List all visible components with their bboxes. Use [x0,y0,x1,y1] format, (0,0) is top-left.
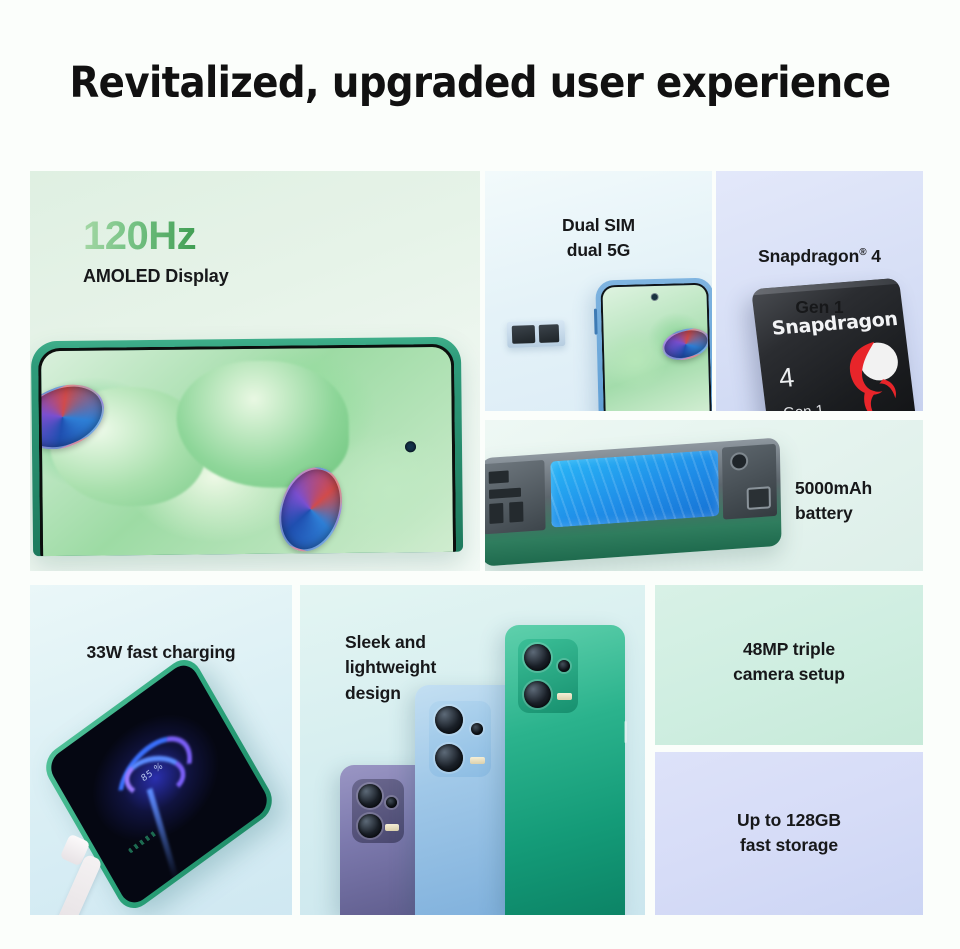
snapdragon-caption-line2: Gen 1 [795,297,843,317]
wallpaper-lens-ornament [659,323,712,365]
power-button-icon [624,721,627,743]
wallpaper-lens-ornament-1 [38,373,114,461]
camera-flash-icon [385,824,399,831]
charging-phone-image: 85 % [39,652,279,915]
camera-lens-macro-icon [386,797,397,808]
camera-lens-main-icon [435,706,463,734]
amoled-phone-image [31,337,463,556]
camera-lens-main-icon [358,784,382,808]
amoled-caption: AMOLED Display [83,263,229,289]
snapdragon-caption: Snapdragon® 4 Gen 1 [716,219,923,321]
dual-sim-phone-image [595,277,712,411]
feature-card-sleek-design[interactable]: Sleek and lightweight design [300,585,645,915]
camera-module-purple [352,779,404,843]
dual-sim-phone-screen [600,283,711,411]
camera-lens-macro-icon [558,660,570,672]
camera-flash-icon [470,757,485,764]
chip-generation-label: Gen 1 [782,402,825,411]
mainboard-component [485,460,546,534]
feature-card-dual-sim[interactable]: Dual SIM dual 5G [485,171,712,411]
feature-card-battery[interactable]: 5000mAh battery [485,420,923,571]
front-camera-icon [651,293,659,301]
page-title: Revitalized, upgraded user experience [0,58,960,108]
wallpaper-lens-ornament-2 [269,459,352,556]
shield-plate-icon [747,486,771,510]
battery-cell-component [550,450,719,528]
camera-module-green [518,639,578,713]
camera-lens-macro-icon [471,723,483,735]
camera-lens-main-icon [524,644,551,671]
camera-flash-icon [557,693,572,700]
camera-lens-wide-icon [435,744,463,772]
sleek-design-caption: Sleek and lightweight design [345,630,436,706]
snapdragon-caption-line1: Snapdragon [758,246,859,266]
feature-card-amoled-display[interactable]: 120Hz AMOLED Display [30,171,480,571]
dual-sim-caption: Dual SIM dual 5G [485,213,712,264]
feature-card-storage[interactable]: Up to 128GB fast storage [655,752,923,915]
snapdragon-logo-icon [830,334,910,411]
camera-lens-wide-icon [358,814,382,838]
feature-card-fast-charging[interactable]: 33W fast charging 85 % [30,585,292,915]
front-camera-icon [405,442,416,453]
feature-card-camera[interactable]: 48MP triple camera setup [655,585,923,745]
battery-phone-internals-image [485,437,782,566]
rear-lens-icon [730,452,748,471]
amoled-screen [38,344,456,556]
fast-charging-caption: 33W fast charging [30,640,292,665]
amoled-headline: 120Hz [83,214,196,259]
sim-tray-image [507,320,566,348]
snapdragon-caption-line1-end: 4 [866,246,880,266]
camera-module-component [722,444,777,520]
feature-card-snapdragon[interactable]: Snapdragon® 4 Gen 1 Snapdragon 4 Gen 1 [716,171,923,411]
camera-module-blue [429,701,491,777]
earpiece-icon [223,345,269,348]
battery-caption: 5000mAh battery [795,476,872,527]
sim-card-1 [512,325,536,344]
sim-card-2 [539,324,560,343]
camera-lens-wide-icon [524,681,551,708]
camera-caption: 48MP triple camera setup [655,637,923,688]
chip-number-label: 4 [777,362,796,394]
storage-caption: Up to 128GB fast storage [655,808,923,859]
phone-green [505,625,625,915]
volume-button-icon [594,309,598,335]
